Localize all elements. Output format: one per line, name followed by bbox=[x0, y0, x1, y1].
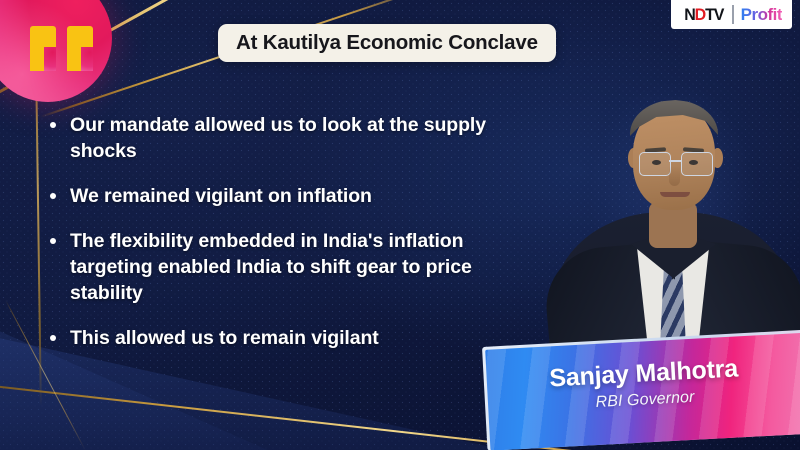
bullet-dot-icon bbox=[50, 238, 56, 244]
eyeglass-bridge bbox=[669, 160, 681, 162]
list-item: This allowed us to remain vigilant bbox=[48, 325, 518, 351]
channel-logo: NDTV Profit bbox=[671, 0, 792, 29]
quote-bullet-list: Our mandate allowed us to look at the su… bbox=[48, 112, 518, 370]
list-item: We remained vigilant on inflation bbox=[48, 183, 518, 209]
bullet-text: Our mandate allowed us to look at the su… bbox=[70, 112, 518, 164]
list-item: Our mandate allowed us to look at the su… bbox=[48, 112, 518, 164]
quote-mark-icon bbox=[30, 26, 93, 71]
quote-mark-right-icon bbox=[67, 26, 93, 71]
eyeglass-lens-right bbox=[681, 152, 713, 176]
bullet-text: This allowed us to remain vigilant bbox=[70, 325, 379, 351]
bullet-text: The flexibility embedded in India's infl… bbox=[70, 228, 518, 306]
eyeglass-lens-left bbox=[639, 152, 671, 176]
portrait-nose bbox=[669, 166, 680, 186]
speaker-portrait bbox=[545, 62, 800, 362]
broadcast-quote-card: At Kautilya Economic Conclave NDTV Profi… bbox=[0, 0, 800, 450]
list-item: The flexibility embedded in India's infl… bbox=[48, 228, 518, 306]
logo-accent-mark: D bbox=[695, 5, 705, 24]
page-title: At Kautilya Economic Conclave bbox=[236, 31, 538, 55]
logo-divider bbox=[732, 5, 734, 24]
bullet-dot-icon bbox=[50, 193, 56, 199]
speaker-nameplate: Sanjay Malhotra RBI Governor bbox=[482, 329, 800, 450]
logo-profit-text: Profit bbox=[741, 5, 782, 25]
bullet-dot-icon bbox=[50, 122, 56, 128]
headline-banner: At Kautilya Economic Conclave bbox=[218, 24, 556, 62]
bullet-dot-icon bbox=[50, 335, 56, 341]
bullet-text: We remained vigilant on inflation bbox=[70, 183, 372, 209]
logo-ndtv-text: NDTV bbox=[684, 5, 723, 25]
portrait-mouth bbox=[660, 192, 690, 197]
quote-mark-left-icon bbox=[30, 26, 56, 71]
